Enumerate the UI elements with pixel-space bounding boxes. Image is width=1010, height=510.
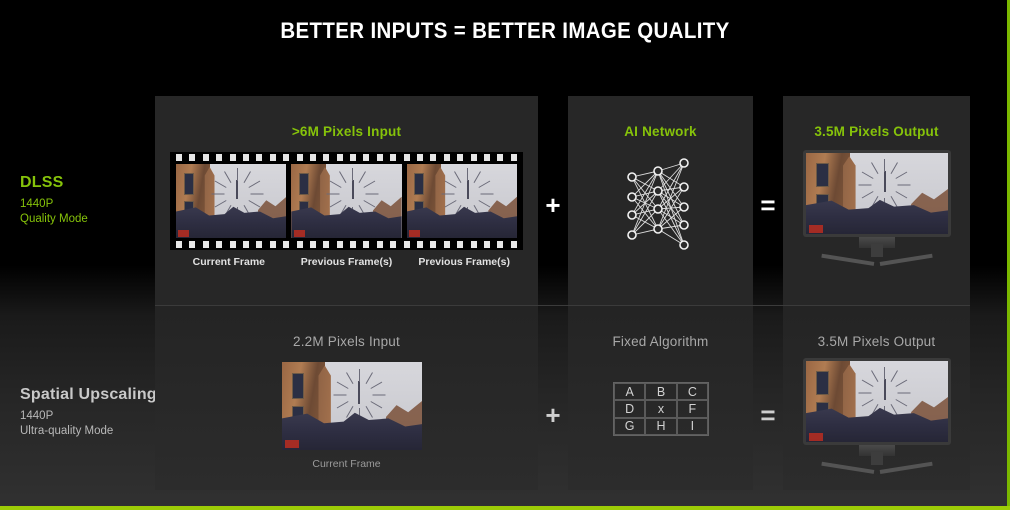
monitor-icon xyxy=(803,150,951,268)
frame-caption-2: Previous Frame(s) xyxy=(288,256,406,268)
spatial-current-frame xyxy=(282,362,422,450)
dlss-equals-operator: = xyxy=(753,190,783,221)
spatial-output-panel: 3.5M Pixels Output xyxy=(783,306,970,490)
filmstrip-frame-2 xyxy=(291,164,401,238)
monitor-bezel xyxy=(803,358,951,445)
monitor-neck xyxy=(871,452,883,465)
slide-title: BETTER INPUTS = BETTER IMAGE QUALITY xyxy=(35,18,974,44)
kernel-cell-4: x xyxy=(645,400,676,417)
dlss-plus-operator: + xyxy=(538,190,568,221)
dlss-process-panel: AI Network xyxy=(568,96,753,305)
kernel-cell-8: I xyxy=(677,418,708,435)
row-label-spatial-resolution: 1440P xyxy=(20,410,53,422)
monitor-bezel xyxy=(803,150,951,237)
filmstrip-frame-3 xyxy=(407,164,517,238)
monitor-icon xyxy=(803,358,951,476)
spatial-input-panel: 2.2M Pixels Input Current Frame xyxy=(155,306,538,490)
row-label-dlss-sub: 1440P Quality Mode xyxy=(20,197,88,228)
monitor-neck xyxy=(871,244,883,257)
neural-network-icon xyxy=(606,151,716,261)
dlss-input-header: >6M Pixels Input xyxy=(155,124,538,139)
filmstrip-frame-1 xyxy=(176,164,286,238)
dlss-filmstrip xyxy=(170,152,523,250)
dlss-process-header: AI Network xyxy=(568,124,753,139)
kernel-cell-1: B xyxy=(645,383,676,400)
row-label-dlss-resolution: 1440P xyxy=(20,198,53,210)
slide-canvas: BETTER INPUTS = BETTER IMAGE QUALITY DLS… xyxy=(0,0,1010,510)
filmstrip-frames xyxy=(176,164,517,238)
row-label-spatial-mode: Ultra-quality Mode xyxy=(20,425,113,437)
kernel-grid-icon: ABCDxFGHI xyxy=(613,382,709,436)
kernel-cell-0: A xyxy=(614,383,645,400)
monitor-screen xyxy=(806,153,948,234)
spatial-output-header: 3.5M Pixels Output xyxy=(783,334,970,349)
spatial-frame-caption: Current Frame xyxy=(155,458,538,470)
spatial-equals-operator: = xyxy=(753,400,783,431)
filmstrip-sprockets-bottom xyxy=(176,241,517,248)
dlss-frame-captions: Current Frame Previous Frame(s) Previous… xyxy=(170,256,523,268)
row-label-spatial-sub: 1440P Ultra-quality Mode xyxy=(20,409,157,440)
dlss-output-panel: 3.5M Pixels Output xyxy=(783,96,970,305)
row-label-dlss: DLSS 1440P Quality Mode xyxy=(20,174,88,228)
frame-caption-3: Previous Frame(s) xyxy=(405,256,523,268)
monitor-foot-right xyxy=(880,461,933,473)
kernel-cell-7: H xyxy=(645,418,676,435)
monitor-foot-left xyxy=(821,461,874,473)
row-label-dlss-name: DLSS xyxy=(20,174,88,192)
spatial-input-header: 2.2M Pixels Input xyxy=(155,334,538,349)
filmstrip-sprockets-top xyxy=(176,154,517,161)
monitor-foot-left xyxy=(821,253,874,265)
kernel-cell-3: D xyxy=(614,400,645,417)
kernel-cell-2: C xyxy=(677,383,708,400)
row-label-spatial-name: Spatial Upscaling xyxy=(20,386,157,404)
row-label-dlss-mode: Quality Mode xyxy=(20,213,88,225)
row-label-spatial: Spatial Upscaling 1440P Ultra-quality Mo… xyxy=(20,386,157,440)
spatial-plus-operator: + xyxy=(538,400,568,431)
spatial-process-panel: Fixed Algorithm ABCDxFGHI xyxy=(568,306,753,490)
frame-caption-1: Current Frame xyxy=(170,256,288,268)
spatial-process-header: Fixed Algorithm xyxy=(568,334,753,349)
dlss-output-header: 3.5M Pixels Output xyxy=(783,124,970,139)
monitor-foot-right xyxy=(880,253,933,265)
dlss-input-panel: >6M Pixels Input Current Frame Previous … xyxy=(155,96,538,305)
monitor-screen xyxy=(806,361,948,442)
kernel-cell-5: F xyxy=(677,400,708,417)
accent-edge-bottom xyxy=(0,506,1010,510)
kernel-cell-6: G xyxy=(614,418,645,435)
